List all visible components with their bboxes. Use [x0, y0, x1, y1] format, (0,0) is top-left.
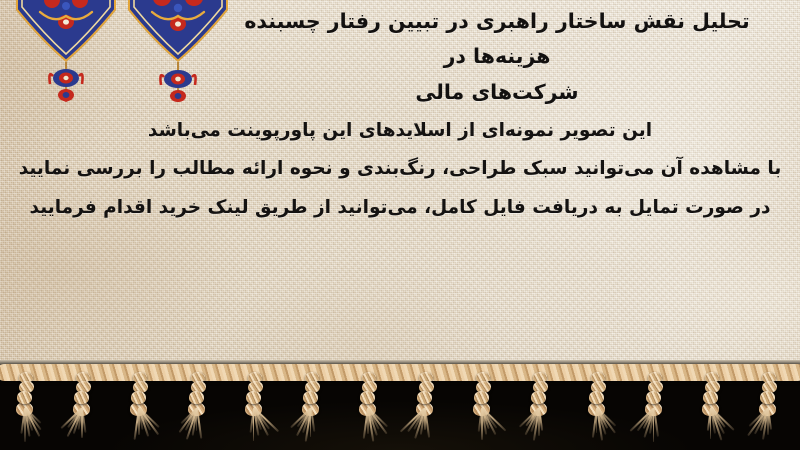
tassel-fiber-fan: [526, 408, 552, 444]
tassel-knot: [245, 390, 261, 404]
fringe-tassel: [74, 372, 91, 414]
tassel-knot: [17, 390, 33, 404]
tassel-fiber-fan: [12, 408, 38, 444]
fringe-tassel: [474, 372, 491, 414]
tassel-knot: [188, 390, 204, 404]
tassel-knot: [531, 390, 547, 404]
fringe-tassel: [646, 372, 663, 414]
fringe-tassel: [589, 372, 606, 414]
body-line-2: با مشاهده آن می‌توانید سبک طراحی، رنگ‌بن…: [10, 150, 790, 188]
fringe-tassel: [246, 372, 263, 414]
body-line-3: در صورت تمایل به دریافت فایل کامل، می‌تو…: [10, 189, 790, 227]
body-line-1: این تصویر نمونه‌ای از اسلایدهای این پاور…: [10, 112, 790, 150]
tassel-knot: [417, 390, 433, 404]
slide-body-text: این تصویر نمونه‌ای از اسلایدهای این پاور…: [10, 112, 790, 227]
tassel-knot: [131, 390, 147, 404]
pendant-drop-ornament: [160, 62, 195, 102]
fringe-tassel: [417, 372, 434, 414]
fringe-tassel: [531, 372, 548, 414]
tassel-knot: [74, 390, 90, 404]
fringe-tassel: [303, 372, 320, 414]
tassel-fiber-fan: [126, 408, 152, 444]
slide-title-line-2: شرکت‌های مالی: [415, 80, 578, 104]
presentation-slide: تحلیل نقش ساختار راهبری در تبیین رفتار چ…: [0, 0, 800, 450]
tassel-knot: [760, 390, 776, 404]
tassel-knot: [302, 390, 318, 404]
tassel-fiber-fan: [469, 408, 495, 444]
carpet-fringe-area: [0, 360, 800, 450]
tassel-fiber-fan: [355, 408, 381, 444]
fringe-tassel: [360, 372, 377, 414]
tassel-fiber-fan: [641, 408, 667, 444]
tassel-fiber-fan: [755, 408, 781, 444]
tassel-knot: [588, 390, 604, 404]
tassel-fiber-fan: [298, 408, 324, 444]
fringe-selvedge-cord: [0, 364, 800, 381]
pendant-drop-ornament: [49, 62, 82, 102]
fringe-tassel: [703, 372, 720, 414]
tassel-fiber-fan: [584, 408, 610, 444]
slide-title: تحلیل نقش ساختار راهبری در تبیین رفتار چ…: [208, 4, 786, 110]
tassel-fiber-fan: [184, 408, 210, 444]
fringe-tassel: [189, 372, 206, 414]
fringe-tassel: [760, 372, 777, 414]
tassel-knot: [702, 390, 718, 404]
slide-title-line-1: تحلیل نقش ساختار راهبری در تبیین رفتار چ…: [244, 9, 749, 68]
tassel-fiber-fan: [412, 408, 438, 444]
tassel-fiber-fan: [241, 408, 267, 444]
tassel-fiber-fan: [698, 408, 724, 444]
carpet-pendant-motif-icon: [14, 0, 118, 102]
fringe-tassel: [131, 372, 148, 414]
tassel-knot: [360, 390, 376, 404]
fringe-tassel: [17, 372, 34, 414]
tassel-knot: [645, 390, 661, 404]
tassel-knot: [474, 390, 490, 404]
tassel-fiber-fan: [69, 408, 95, 444]
